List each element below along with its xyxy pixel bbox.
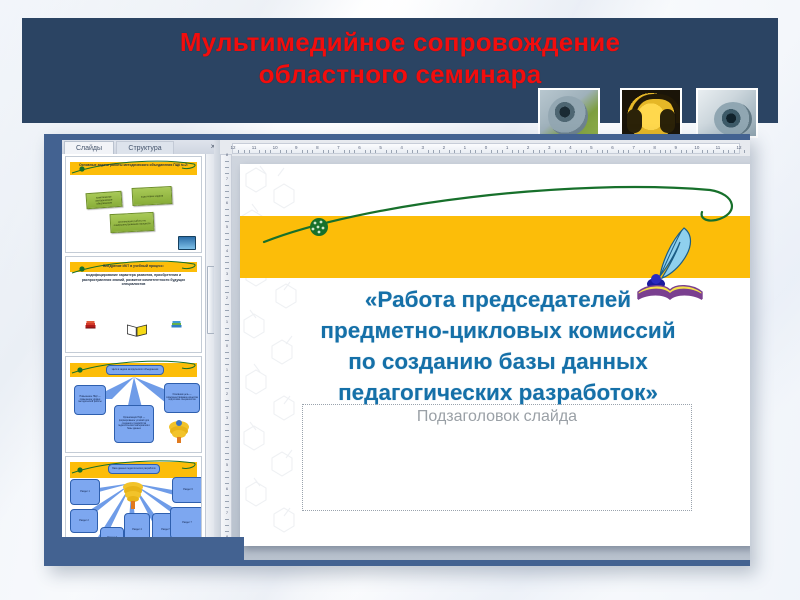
ruler-tick-label: 4 [223, 249, 231, 253]
ruler-tick [518, 150, 519, 153]
ruler-tick-label: 2 [223, 296, 231, 300]
ruler-tick [639, 150, 640, 153]
ruler-tick-label: 11 [250, 145, 258, 151]
ruler-tick [512, 150, 513, 153]
honey-stack-icon [166, 419, 192, 445]
thumb-box: Раздел 2 [70, 509, 98, 533]
thumb-title-box: Цели и задачи методического объединения [106, 365, 164, 375]
ruler-tick [497, 150, 498, 153]
ruler-tick [225, 316, 229, 317]
ruler-tick [370, 150, 371, 153]
ruler-tick [225, 328, 229, 329]
ruler-tick [391, 150, 392, 153]
ruler-tick-label: 8 [223, 153, 231, 157]
ruler-tick [225, 400, 229, 401]
ruler-tick-label: 7 [334, 145, 342, 151]
ruler-tick [597, 150, 598, 153]
page-title: Мультимедийное сопровождение областного … [22, 26, 778, 90]
ruler-tick [225, 262, 229, 263]
ruler-tick-label: 7 [630, 145, 638, 151]
ruler-tick-label: 1 [503, 145, 511, 151]
thumb-body: модифицирование характера развития, прио… [74, 273, 193, 287]
ruler-tick [225, 406, 229, 407]
ruler-tick [560, 150, 561, 153]
ruler-tick [225, 501, 229, 502]
ruler-tick [225, 364, 229, 365]
ruler-tick-label: 1 [461, 145, 469, 151]
ruler-tick [470, 150, 471, 153]
slide-subtitle-placeholder[interactable]: Подзаголовок слайда [302, 404, 692, 511]
ruler-tick [225, 245, 229, 246]
ruler-tick-label: 0 [223, 344, 231, 348]
ruler-tick [225, 453, 229, 454]
ruler-tick [644, 150, 645, 153]
ruler-tick [491, 150, 492, 153]
ruler-tick-label: 2 [223, 392, 231, 396]
ruler-tick [225, 447, 229, 448]
ruler-tick [602, 150, 603, 153]
ruler-tick [225, 334, 229, 335]
ruler-tick [660, 150, 661, 153]
computer-icon [178, 236, 196, 250]
thumb-box: организация работы по совершенствованию … [110, 212, 155, 233]
ruler-tick-label: 0 [482, 145, 490, 151]
ruler-tick-label: 9 [292, 145, 300, 151]
thumb-box: Организация ПЦК — формирование условий д… [114, 405, 154, 443]
ruler-tick [475, 150, 476, 153]
ruler-tick-label: 7 [223, 511, 231, 515]
open-book-with-quill-icon [622, 224, 718, 302]
tab-slides[interactable]: Слайды [64, 141, 114, 155]
ruler-tick [581, 150, 582, 153]
ruler-tick-label: 7 [223, 177, 231, 181]
ruler-tick-label: 1 [223, 368, 231, 372]
ruler-tick [428, 150, 429, 153]
slide-subtitle-text: Подзаголовок слайда [303, 408, 691, 426]
ruler-tick [225, 459, 229, 460]
thumb-box: Раздел 7 [170, 507, 202, 539]
ruler-tick [225, 304, 229, 305]
ruler-tick [225, 340, 229, 341]
ruler-tick [302, 150, 303, 153]
ruler-tick [225, 161, 229, 162]
ruler-tick [225, 436, 229, 437]
thumb-box: подготовка кадров [132, 186, 173, 206]
ruler-tick [555, 150, 556, 153]
ruler-tick [225, 477, 229, 478]
ruler-tick [307, 150, 308, 153]
speaker-light-photo [696, 88, 758, 138]
ruler-tick [286, 150, 287, 153]
ruler-tick [225, 286, 229, 287]
slide-thumbnail-list[interactable]: Основные задачи работы методического объ… [62, 154, 205, 560]
ruler-tick [349, 150, 350, 153]
ruler-tick [259, 150, 260, 153]
ruler-tick-label: 10 [693, 145, 701, 151]
ruler-tick [265, 150, 266, 153]
ruler-tick [225, 519, 229, 520]
ruler-tick-label: 5 [223, 463, 231, 467]
ruler-tick [412, 150, 413, 153]
ruler-tick-label: 6 [223, 487, 231, 491]
ruler-tick [225, 430, 229, 431]
ruler-tick [744, 150, 745, 153]
ruler-tick [225, 191, 229, 192]
ruler-tick-label: 8 [313, 145, 321, 151]
ruler-tick [323, 150, 324, 153]
slide-thumbnail-3[interactable]: Цели и задачи методического объединения … [65, 356, 202, 453]
ruler-tick [728, 150, 729, 153]
ruler-tick [225, 209, 229, 210]
ruler-tick [225, 310, 229, 311]
ruler-tick-label: 3 [223, 416, 231, 420]
ruler-tick-label: 4 [566, 145, 574, 151]
ruler-tick-label: 6 [223, 201, 231, 205]
honey-stack-icon [120, 481, 146, 511]
books-icon [170, 319, 183, 329]
ruler-tick [225, 525, 229, 526]
ruler-tick [225, 197, 229, 198]
ruler-tick [225, 531, 229, 532]
thumb-box: Раздел 1 [70, 479, 100, 505]
bottom-accent-block [44, 537, 244, 566]
ruler-tick-label: 2 [524, 145, 532, 151]
ruler-tick [681, 150, 682, 153]
current-slide[interactable]: «Работа председателей предметно-цикловых… [240, 164, 750, 546]
ruler-tick [225, 376, 229, 377]
ruler-tick-label: 5 [587, 145, 595, 151]
powerpoint-window: Слайды Структура × Основные задачи работ… [62, 140, 750, 560]
tab-outline[interactable]: Структура [116, 141, 174, 155]
ruler-tick [225, 495, 229, 496]
ruler-tick [225, 412, 229, 413]
thumb-box: Раздел 6 [172, 477, 202, 503]
ruler-tick [280, 150, 281, 153]
ruler-tick [686, 150, 687, 153]
vertical-ruler: 87654321012345678 [220, 154, 232, 538]
speaker-green-photo [538, 88, 600, 138]
ruler-tick [225, 215, 229, 216]
ruler-tick [225, 424, 229, 425]
ruler-tick [225, 268, 229, 269]
ruler-tick-label: 4 [398, 145, 406, 151]
thumb-title: Основные задачи работы методического объ… [71, 163, 196, 167]
ruler-tick-label: 3 [419, 145, 427, 151]
ruler-tick-label: 12 [229, 145, 237, 151]
ruler-tick [225, 233, 229, 234]
ruler-tick [454, 150, 455, 153]
ruler-tick [618, 150, 619, 153]
ruler-tick-label: 5 [377, 145, 385, 151]
ruler-tick [225, 221, 229, 222]
ruler-tick [344, 150, 345, 153]
ruler-tick-label: 10 [271, 145, 279, 151]
ruler-tick [225, 280, 229, 281]
ruler-tick [407, 150, 408, 153]
thumb-box: Повышение ПЦК — повышение уровня методич… [74, 385, 106, 415]
thumb-title: Внедрение ИКТ в учебный процесс: [71, 264, 196, 268]
ruler-tick [449, 150, 450, 153]
thumb-box: комплексное методическое обеспечение [85, 191, 122, 209]
ruler-tick-label: 3 [545, 145, 553, 151]
ruler-tick [576, 150, 577, 153]
ruler-tick-label: 12 [735, 145, 743, 151]
ruler-tick [225, 256, 229, 257]
ruler-tick-label: 11 [714, 145, 722, 151]
ruler-tick [665, 150, 666, 153]
ruler-tick [225, 358, 229, 359]
ruler-tick-label: 1 [223, 320, 231, 324]
ruler-tick [702, 150, 703, 153]
ruler-tick [238, 150, 239, 153]
ruler-tick [328, 150, 329, 153]
ruler-tick-label: 6 [609, 145, 617, 151]
ruler-tick [225, 352, 229, 353]
ruler-tick [225, 483, 229, 484]
ruler-tick [225, 388, 229, 389]
slide-edit-area[interactable]: «Работа председателей предметно-цикловых… [232, 156, 750, 560]
ruler-tick [433, 150, 434, 153]
ruler-tick [539, 150, 540, 153]
ruler-tick-label: 2 [440, 145, 448, 151]
thumb-box: Основная цель — совершенствование качест… [164, 383, 200, 413]
ruler-tick [225, 507, 229, 508]
open-book-icon [126, 321, 148, 337]
books-icon [84, 319, 97, 329]
ruler-tick-label: 3 [223, 272, 231, 276]
ruler-tick [225, 167, 229, 168]
ruler-tick-label: 9 [672, 145, 680, 151]
ruler-tick [365, 150, 366, 153]
slide-pane-tabbar: Слайды Структура × [62, 140, 220, 155]
ruler-tick [225, 292, 229, 293]
ruler-tick-label: 4 [223, 440, 231, 444]
ruler-tick [723, 150, 724, 153]
ruler-tick [623, 150, 624, 153]
ruler-tick [225, 185, 229, 186]
ruler-tick [225, 471, 229, 472]
ruler-tick [533, 150, 534, 153]
ruler-tick [244, 150, 245, 153]
horizontal-ruler: 1211109876543210123456789101112 [232, 143, 740, 154]
ruler-tick [225, 173, 229, 174]
ruler-tick-label: 5 [223, 225, 231, 229]
slide-title[interactable]: «Работа председателей предметно-цикловых… [286, 284, 710, 408]
thumb-title-box: База данных педагогических разработок [108, 464, 160, 474]
ruler-tick-label: 8 [651, 145, 659, 151]
ruler-tick-label: 6 [356, 145, 364, 151]
ruler-tick [225, 239, 229, 240]
headphones-yellow-photo [620, 88, 682, 138]
ruler-tick [707, 150, 708, 153]
slide-thumbnail-2[interactable]: Внедрение ИКТ в учебный процесс: модифиц… [65, 256, 202, 353]
slide-thumbnail-1[interactable]: Основные задачи работы методического объ… [65, 156, 202, 253]
ruler-tick [225, 382, 229, 383]
ruler-tick [386, 150, 387, 153]
